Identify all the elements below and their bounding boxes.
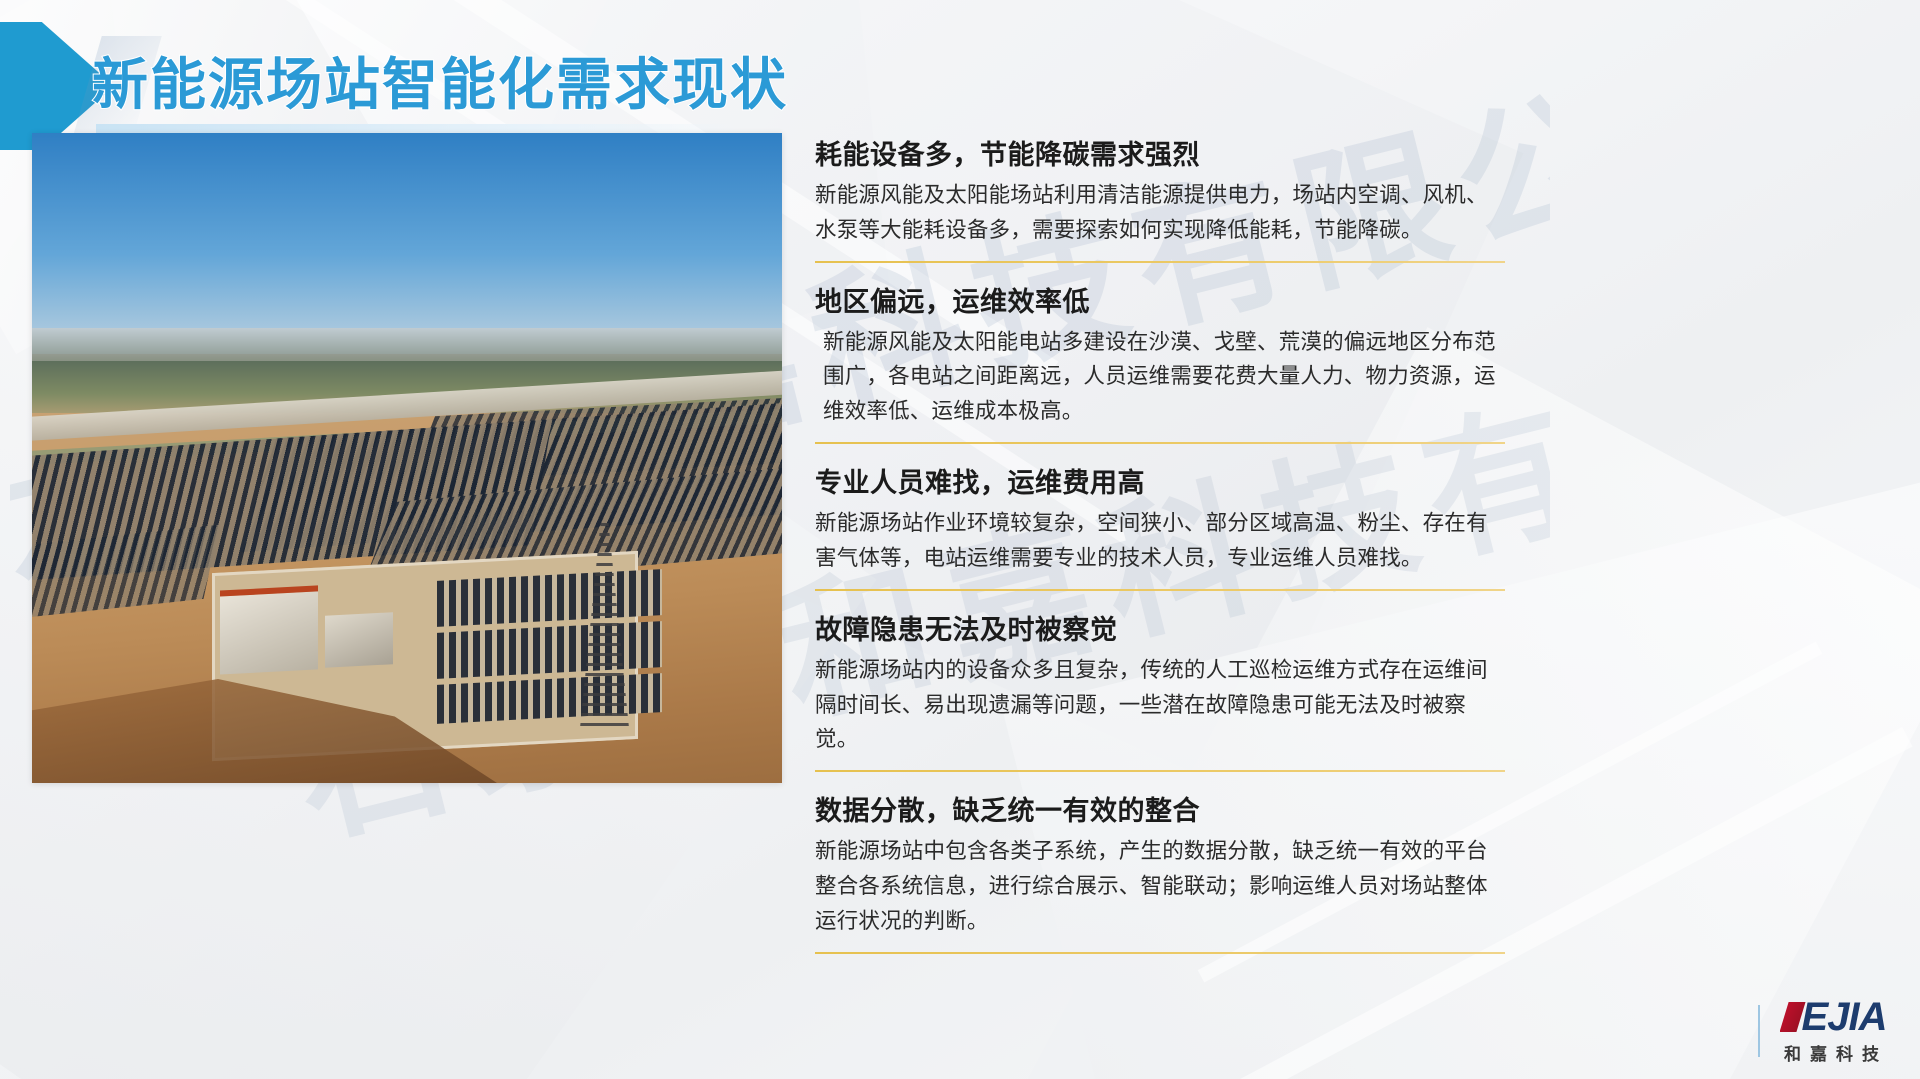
divider-4: [815, 770, 1505, 772]
logo-wordmark-text: EJIA: [1802, 997, 1887, 1037]
content-column: 耗能设备多，节能降碳需求强烈 新能源风能及太阳能场站利用清洁能源提供电力，场站内…: [815, 133, 1505, 971]
photo-sky: [32, 133, 782, 354]
issue-heading-5: 数据分散，缺乏统一有效的整合: [815, 789, 1505, 828]
issue-heading-4: 故障隐患无法及时被察觉: [815, 608, 1505, 647]
issue-block-1: 耗能设备多，节能降碳需求强烈 新能源风能及太阳能场站利用清洁能源提供电力，场站内…: [815, 133, 1505, 248]
photo-aux-building: [325, 612, 393, 668]
divider-3: [815, 589, 1505, 591]
issue-block-2: 地区偏远，运维效率低 新能源风能及太阳能电站多建设在沙漠、戈壁、荒漠的偏远地区分…: [815, 280, 1505, 429]
divider-1: [815, 261, 1505, 263]
issue-body-3: 新能源场站作业环境较复杂，空间狭小、部分区域高温、粉尘、存在有害气体等，电站运维…: [815, 506, 1505, 576]
issue-block-5: 数据分散，缺乏统一有效的整合 新能源场站中包含各类子系统，产生的数据分散，缺乏统…: [815, 789, 1505, 938]
divider-2: [815, 442, 1505, 444]
issue-heading-2: 地区偏远，运维效率低: [815, 280, 1505, 319]
logo-mark: EJIA 和嘉科技: [1778, 997, 1888, 1065]
footer-logo: EJIA 和嘉科技: [1758, 997, 1888, 1065]
issue-body-4: 新能源场站内的设备众多且复杂，传统的人工巡检运维方式存在运维间隔时间长、易出现遗…: [815, 653, 1505, 757]
issue-block-3: 专业人员难找，运维费用高 新能源场站作业环境较复杂，空间狭小、部分区域高温、粉尘…: [815, 461, 1505, 576]
site-photo: [32, 133, 782, 783]
issue-body-5: 新能源场站中包含各类子系统，产生的数据分散，缺乏统一有效的平台整合各系统信息，进…: [815, 834, 1505, 938]
logo-divider: [1758, 1005, 1760, 1057]
issue-body-2: 新能源风能及太阳能电站多建设在沙漠、戈壁、荒漠的偏远地区分布范围广，各电站之间距…: [815, 325, 1505, 429]
photo-control-building: [220, 585, 318, 674]
slide-canvas: 石家庄和嘉科技有限公司 石家庄和嘉科技有限公司 新能源场站智能化需求现状 耗能设…: [0, 0, 1920, 1079]
issue-heading-1: 耗能设备多，节能降碳需求强烈: [815, 133, 1505, 172]
issue-heading-3: 专业人员难找，运维费用高: [815, 461, 1505, 500]
issue-body-1: 新能源风能及太阳能场站利用清洁能源提供电力，场站内空调、风机、水泵等大能耗设备多…: [815, 178, 1505, 248]
logo-chinese-name: 和嘉科技: [1778, 1040, 1888, 1065]
divider-5: [815, 952, 1505, 954]
logo-wordmark-row: EJIA: [1780, 997, 1887, 1037]
page-title: 新能源场站智能化需求现状: [92, 40, 788, 121]
issue-block-4: 故障隐患无法及时被察觉 新能源场站内的设备众多且复杂，传统的人工巡检运维方式存在…: [815, 608, 1505, 757]
